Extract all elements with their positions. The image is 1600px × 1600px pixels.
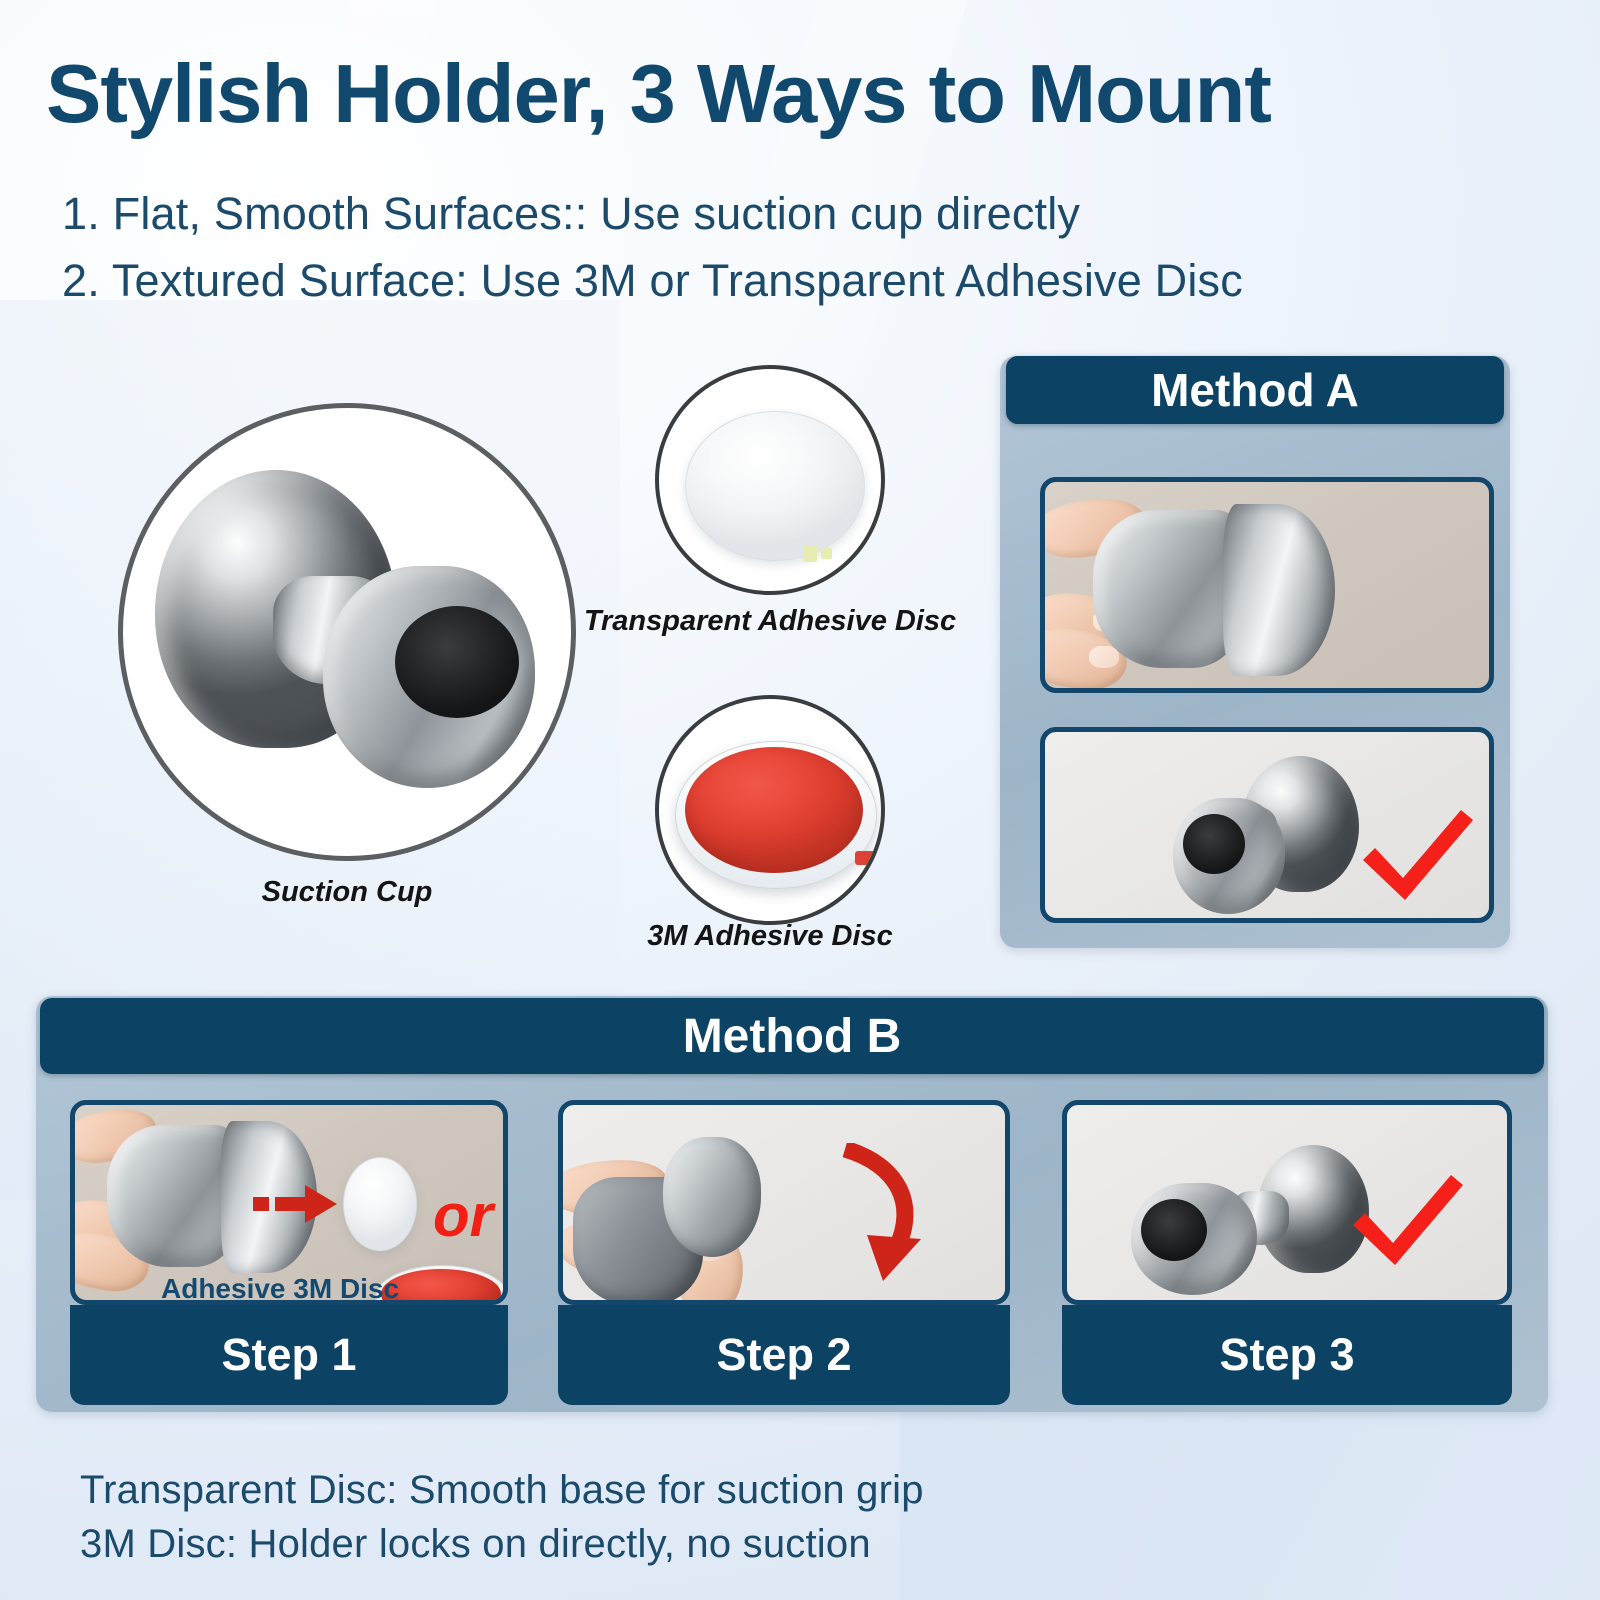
step-1-label: Step 1 (221, 1329, 356, 1381)
method-b-heading-label: Method B (683, 1009, 902, 1064)
method-b-step-3-bar: Step 3 (1062, 1305, 1512, 1405)
red-3m-disc-caption: 3M Adhesive Disc (630, 920, 910, 953)
holder-flared-cup (1223, 504, 1335, 676)
method-a-panel-2 (1040, 727, 1494, 923)
instruction-line-2: 2. Textured Surface: Use 3M or Transpare… (62, 255, 1243, 307)
method-b-step-1-photo: or Adhesive 3M Disc (70, 1100, 508, 1305)
red-3m-disc-tab-icon (855, 851, 877, 865)
check-icon (1357, 808, 1475, 904)
transparent-disc-circle (655, 365, 885, 595)
transparent-disc-tab2-icon (821, 548, 832, 559)
method-b-step-1-bar: Step 1 (70, 1305, 508, 1405)
bg-wash-bottom (900, 1380, 1600, 1600)
method-b-step-3-photo (1062, 1100, 1512, 1305)
transparent-disc-icon (343, 1157, 417, 1251)
curved-arrow-icon (821, 1143, 941, 1287)
or-text: or (433, 1181, 493, 1250)
red-3m-disc-icon (685, 747, 863, 873)
method-b-step-2-bar: Step 2 (558, 1305, 1010, 1405)
method-a-heading-label: Method A (1151, 363, 1359, 417)
holder-body (107, 1125, 239, 1267)
step-3-label: Step 3 (1219, 1329, 1354, 1381)
suction-cup-circle (118, 403, 576, 861)
page-title: Stylish Holder, 3 Ways to Mount (46, 52, 1566, 137)
red-3m-disc-circle (655, 695, 885, 925)
footer-line-2: 3M Disc: Holder locks on directly, no su… (80, 1522, 871, 1567)
transparent-disc-tab-icon (803, 545, 817, 562)
method-a-heading: Method A (1006, 356, 1504, 424)
step-2-label: Step 2 (716, 1329, 851, 1381)
infographic-page: Stylish Holder, 3 Ways to Mount 1. Flat,… (0, 0, 1600, 1600)
adhesive-3m-disc-label: Adhesive 3M Disc (161, 1273, 399, 1305)
holder-dome (663, 1137, 761, 1257)
instruction-line-1: 1. Flat, Smooth Surfaces:: Use suction c… (62, 188, 1080, 240)
suction-cup-icon (123, 408, 571, 856)
footer-line-1: Transparent Disc: Smooth base for suctio… (80, 1468, 924, 1513)
method-b-step-2-photo (558, 1100, 1010, 1305)
holder-body (1093, 510, 1243, 668)
check-icon (1347, 1173, 1465, 1269)
suction-cup-caption: Suction Cup (118, 876, 576, 909)
transparent-disc-caption: Transparent Adhesive Disc (580, 605, 960, 638)
transparent-disc-icon (685, 411, 865, 561)
method-a-panel-1 (1040, 477, 1494, 693)
straight-arrow-icon (253, 1183, 337, 1225)
method-b-heading: Method B (40, 998, 1544, 1074)
